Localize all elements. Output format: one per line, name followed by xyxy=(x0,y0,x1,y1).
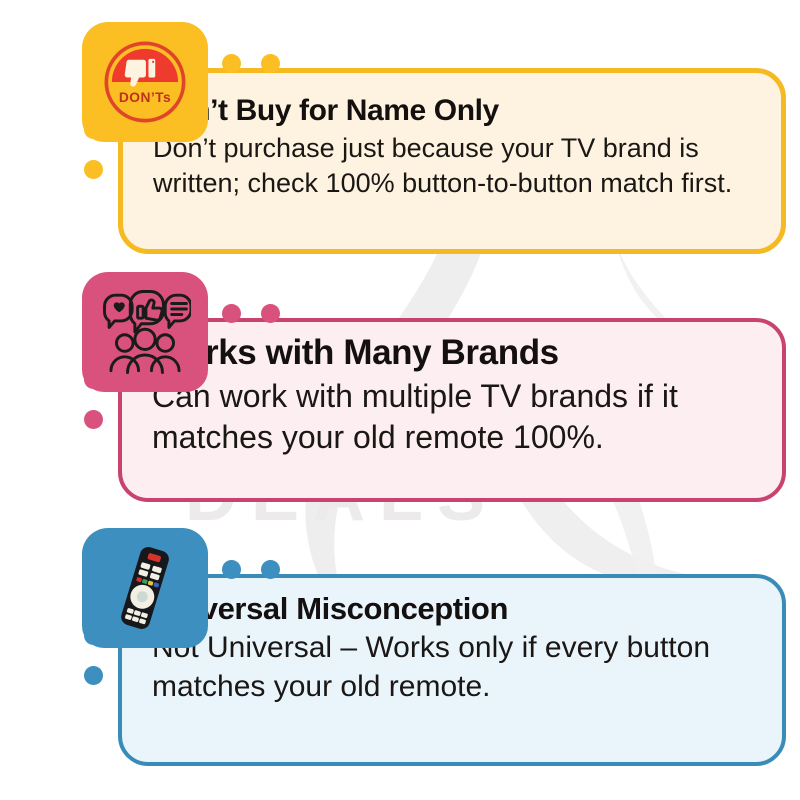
card-body-many-brands: Works with Many Brands Can work with mul… xyxy=(118,318,786,502)
decorative-dot xyxy=(261,560,280,579)
decorative-dot xyxy=(222,304,241,323)
card-description: Don’t purchase just because your TV bran… xyxy=(153,131,753,200)
side-dots-donts xyxy=(84,120,103,200)
tv-remote-icon xyxy=(99,542,191,634)
card-description: Can work with multiple TV brands if it m… xyxy=(152,376,754,458)
card-many-brands: Works with Many Brands Can work with mul… xyxy=(0,272,800,504)
decorative-dot xyxy=(84,666,103,685)
decorative-dot xyxy=(261,54,280,73)
card-description: Not Universal – Works only if every butt… xyxy=(152,629,754,706)
decorative-dot xyxy=(84,626,103,645)
card-body-donts: Don’t Buy for Name Only Don’t purchase j… xyxy=(118,68,786,254)
top-dots-universal xyxy=(222,560,280,579)
decorative-dot xyxy=(222,54,241,73)
card-title: Don’t Buy for Name Only xyxy=(153,95,753,127)
top-dots-donts xyxy=(222,54,280,73)
thumbs-down-donts-badge-icon: DON’Ts xyxy=(99,36,191,128)
side-dots-many-brands xyxy=(84,370,103,450)
people-reviews-icon xyxy=(99,286,191,378)
decorative-dot xyxy=(222,560,241,579)
infographic-canvas: DEALS DON’Ts xyxy=(0,0,800,800)
svg-text:DON’Ts: DON’Ts xyxy=(119,90,171,105)
side-dots-universal xyxy=(84,626,103,706)
card-title: Works with Many Brands xyxy=(152,334,754,372)
decorative-dot xyxy=(261,304,280,323)
decorative-dot xyxy=(84,160,103,179)
card-universal-misconception: Universal Misconception Not Universal – … xyxy=(0,528,800,768)
card-body-universal: Universal Misconception Not Universal – … xyxy=(118,574,786,766)
decorative-dot xyxy=(84,370,103,389)
card-donts: DON’Ts Don’t Buy for Name Only Don’t pur… xyxy=(0,22,800,254)
decorative-dot xyxy=(84,120,103,139)
top-dots-many-brands xyxy=(222,304,280,323)
card-title: Universal Misconception xyxy=(152,592,754,625)
decorative-dot xyxy=(84,410,103,429)
